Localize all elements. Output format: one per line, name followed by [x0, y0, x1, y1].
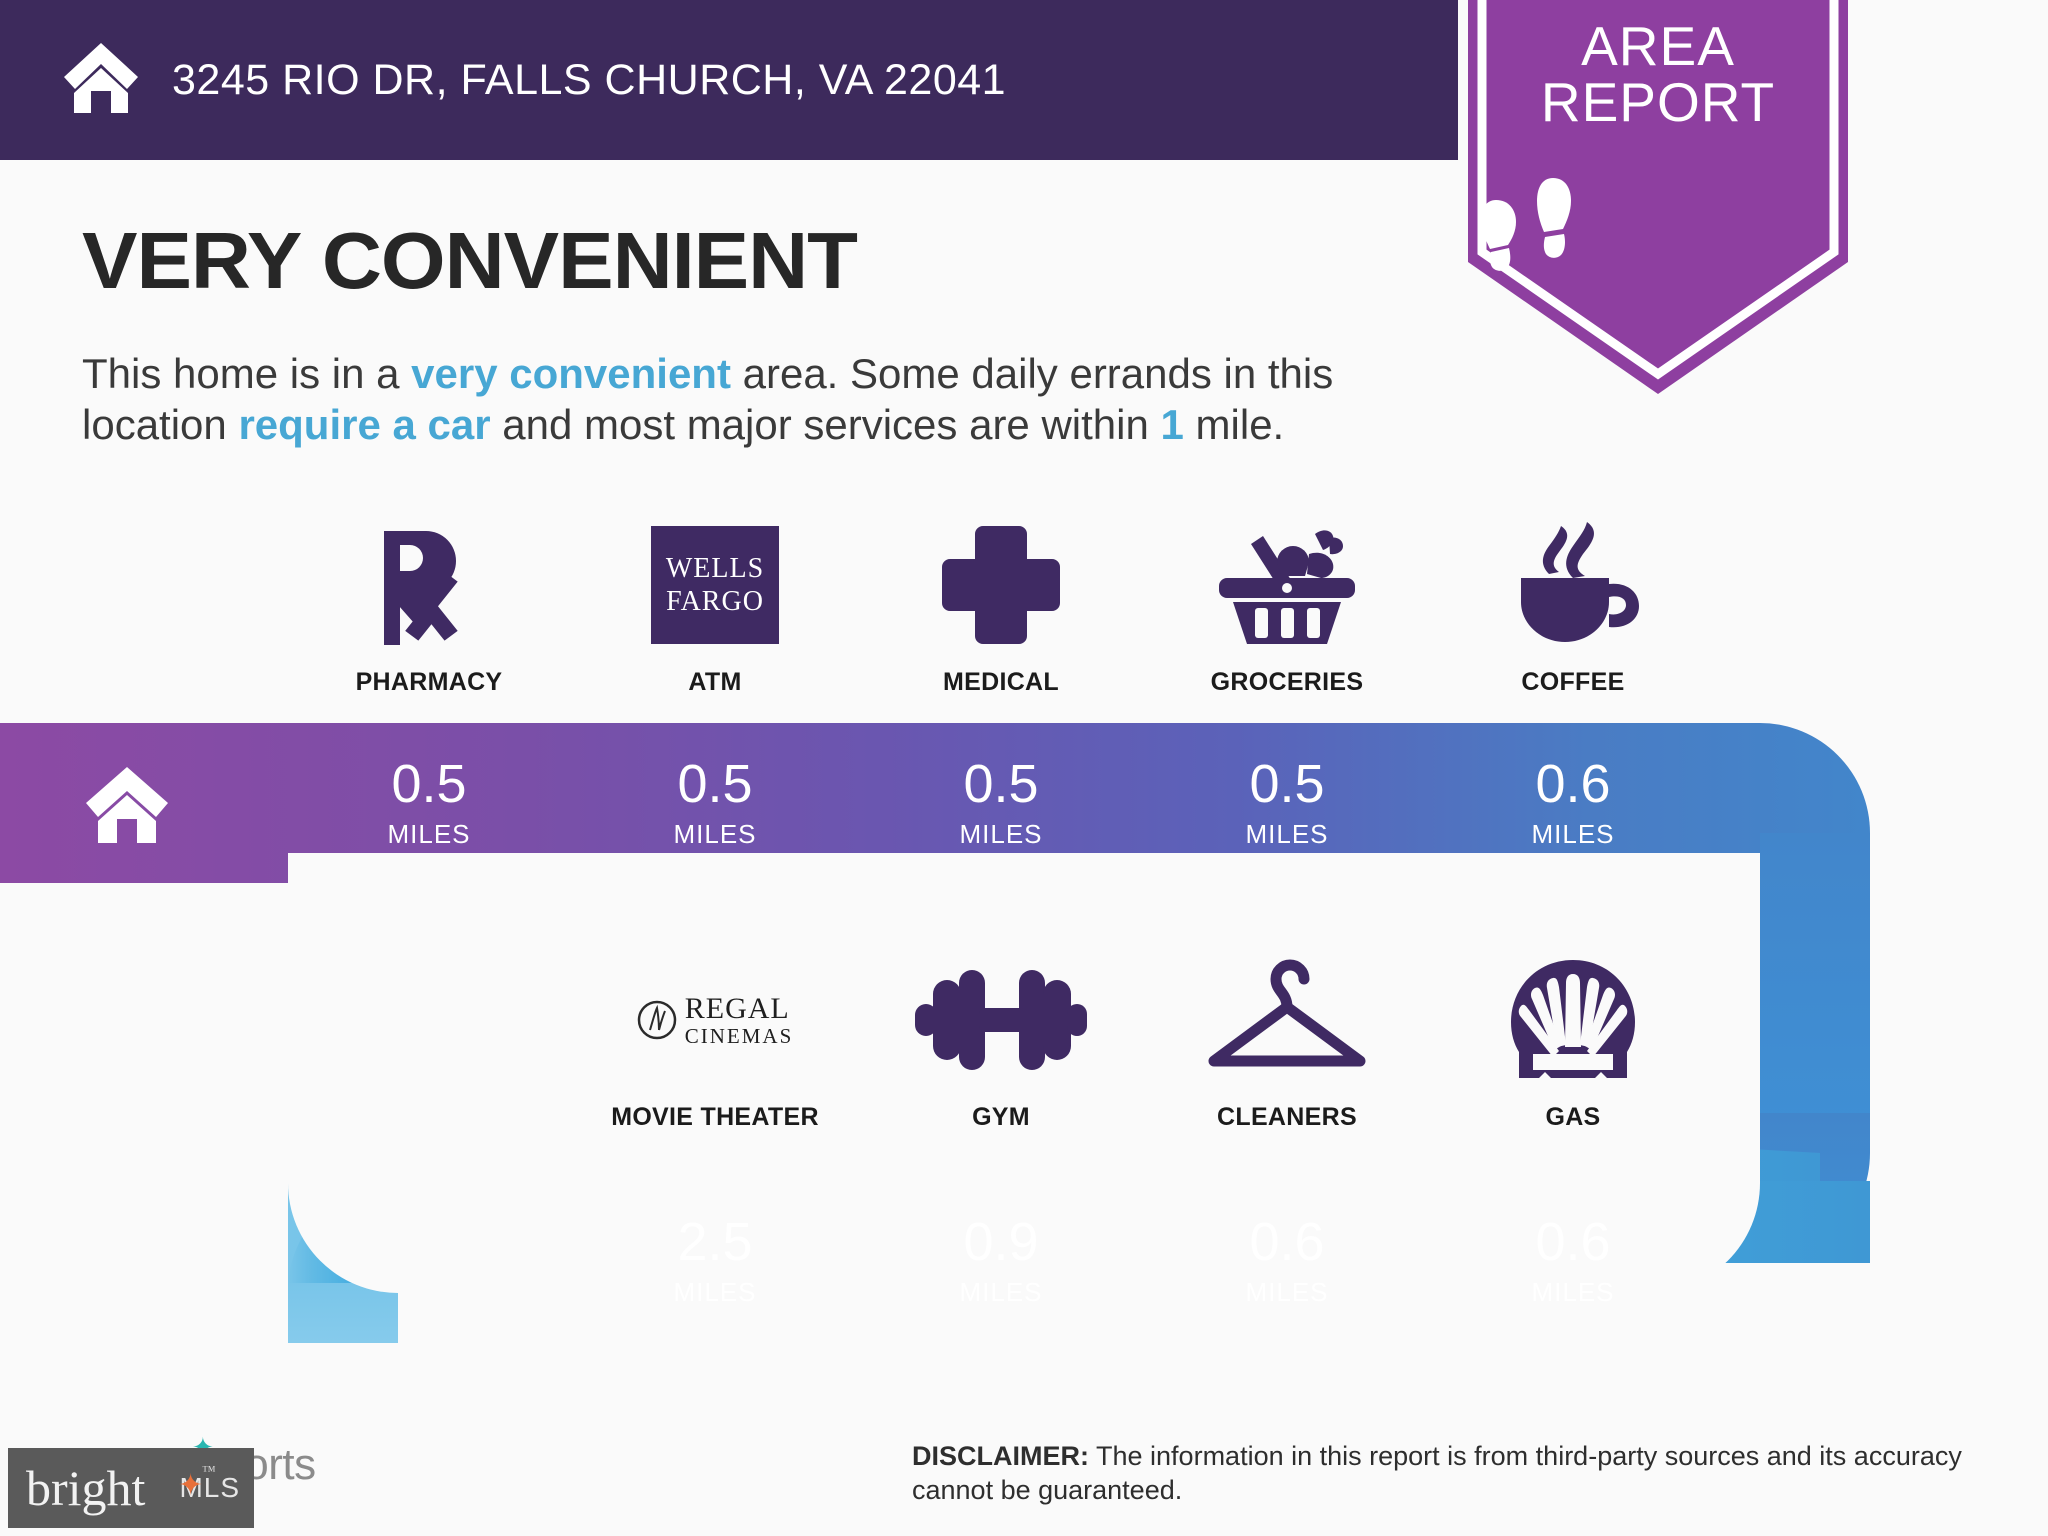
intro-highlight-3: 1 [1161, 401, 1184, 448]
distance-cell: 0.6 MILES [1430, 1181, 1716, 1341]
property-address: 3245 RIO DR, FALLS CHURCH, VA 22041 [172, 56, 1006, 105]
distance-unit: MILES [387, 819, 470, 850]
distance-values-row-1: 0.5 MILES 0.5 MILES 0.5 MILES 0.5 MILES … [286, 723, 1716, 883]
category-cleaners[interactable]: CLEANERS [1144, 955, 1430, 1132]
category-label: MEDICAL [943, 668, 1059, 697]
distance-value: 0.6 [1249, 1215, 1324, 1269]
category-label: CLEANERS [1217, 1103, 1357, 1132]
distance-unit: MILES [1531, 1277, 1614, 1308]
category-pharmacy[interactable]: PHARMACY [286, 520, 572, 697]
category-medical[interactable]: MEDICAL [858, 520, 1144, 697]
badge-line-2: REPORT [1468, 74, 1848, 130]
rx-icon [370, 520, 488, 650]
trademark-symbol: ™ [202, 1465, 216, 1479]
area-report-badge: AREA REPORT [1468, 0, 1848, 394]
category-label: PHARMACY [356, 668, 503, 697]
wells-fargo-line-2: FARGO [666, 585, 764, 618]
distance-value: 0.5 [1249, 757, 1324, 811]
distance-cell: 0.5 MILES [572, 723, 858, 883]
badge-text: AREA REPORT [1468, 18, 1848, 130]
wells-fargo-line-1: WELLS [666, 552, 764, 585]
shell-logo [1509, 955, 1637, 1085]
distance-value: 0.5 [677, 757, 752, 811]
category-groceries[interactable]: GROCERIES [1144, 520, 1430, 697]
header-bar: 3245 RIO DR, FALLS CHURCH, VA 22041 [0, 0, 1458, 160]
intro-seg-3: and most major services are within [491, 401, 1161, 448]
distance-values-row-2: 2.5 MILES 0.9 MILES 0.6 MILES 0.6 MILES [572, 1181, 1716, 1341]
distance-cell: 0.5 MILES [1144, 723, 1430, 883]
bright-spark-icon: ✦ [178, 1471, 203, 1501]
distance-value: 0.6 [1535, 1215, 1610, 1269]
category-row-2: REGAL CINEMAS MOVIE THEATER GYM [572, 955, 1716, 1132]
bright-mls-logo: bright ✦ ™ MLS [8, 1448, 254, 1528]
regal-line-2: CINEMAS [685, 1025, 794, 1047]
distance-value: 0.5 [963, 757, 1038, 811]
category-label: GYM [972, 1103, 1030, 1132]
category-label: COFFEE [1521, 668, 1624, 697]
intro-paragraph: This home is in a very convenient area. … [82, 348, 1442, 450]
intro-highlight-1: very convenient [411, 350, 731, 397]
distance-cell: 0.9 MILES [858, 1181, 1144, 1341]
bright-word-text: bright [26, 1460, 145, 1516]
regal-line-1: REGAL [685, 993, 794, 1025]
distance-cell: 0.5 MILES [286, 723, 572, 883]
category-label: ATM [688, 668, 741, 697]
intro-seg-4: mile. [1184, 401, 1284, 448]
distance-cell: 0.6 MILES [1430, 723, 1716, 883]
home-icon [62, 41, 140, 120]
distance-cell: 2.5 MILES [572, 1181, 858, 1341]
category-label: GAS [1545, 1103, 1600, 1132]
home-marker-icon [84, 765, 170, 850]
category-gas[interactable]: GAS [1430, 955, 1716, 1132]
distance-value: 0.6 [1535, 757, 1610, 811]
category-label: GROCERIES [1211, 668, 1364, 697]
distance-unit: MILES [1245, 1277, 1328, 1308]
category-atm[interactable]: WELLS FARGO ATM [572, 520, 858, 697]
distance-unit: MILES [1531, 819, 1614, 850]
category-label: MOVIE THEATER [611, 1103, 819, 1132]
category-coffee[interactable]: COFFEE [1430, 520, 1716, 697]
category-gym[interactable]: GYM [858, 955, 1144, 1132]
intro-highlight-2: require a car [238, 401, 490, 448]
distance-value: 0.5 [391, 757, 466, 811]
disclaimer-label: DISCLAIMER: [912, 1441, 1089, 1471]
regal-cinemas-logo: REGAL CINEMAS [637, 955, 794, 1085]
badge-line-1: AREA [1468, 18, 1848, 74]
distance-unit: MILES [959, 1277, 1042, 1308]
dumbbell-icon [915, 955, 1087, 1085]
disclaimer-text: DISCLAIMER: The information in this repo… [912, 1440, 1972, 1508]
hanger-icon [1202, 955, 1372, 1085]
distance-value: 0.9 [963, 1215, 1038, 1269]
intro-seg-1: This home is in a [82, 350, 411, 397]
category-movie-theater[interactable]: REGAL CINEMAS MOVIE THEATER [572, 955, 858, 1132]
category-row-1: PHARMACY WELLS FARGO ATM MEDICAL [286, 520, 1716, 697]
distance-cell: 0.5 MILES [858, 723, 1144, 883]
grocery-basket-icon [1211, 520, 1363, 650]
distance-unit: MILES [673, 1277, 756, 1308]
medical-cross-icon [940, 520, 1062, 650]
distance-unit: MILES [959, 819, 1042, 850]
coffee-cup-icon [1505, 520, 1641, 650]
distance-unit: MILES [1245, 819, 1328, 850]
bright-wordmark: bright ✦ ™ [26, 1463, 145, 1513]
wells-fargo-logo: WELLS FARGO [651, 520, 779, 650]
regal-mark-icon [637, 1000, 677, 1040]
page-title: VERY CONVENIENT [82, 215, 857, 307]
distance-cell: 0.6 MILES [1144, 1181, 1430, 1341]
distance-unit: MILES [673, 819, 756, 850]
distance-value: 2.5 [677, 1215, 752, 1269]
